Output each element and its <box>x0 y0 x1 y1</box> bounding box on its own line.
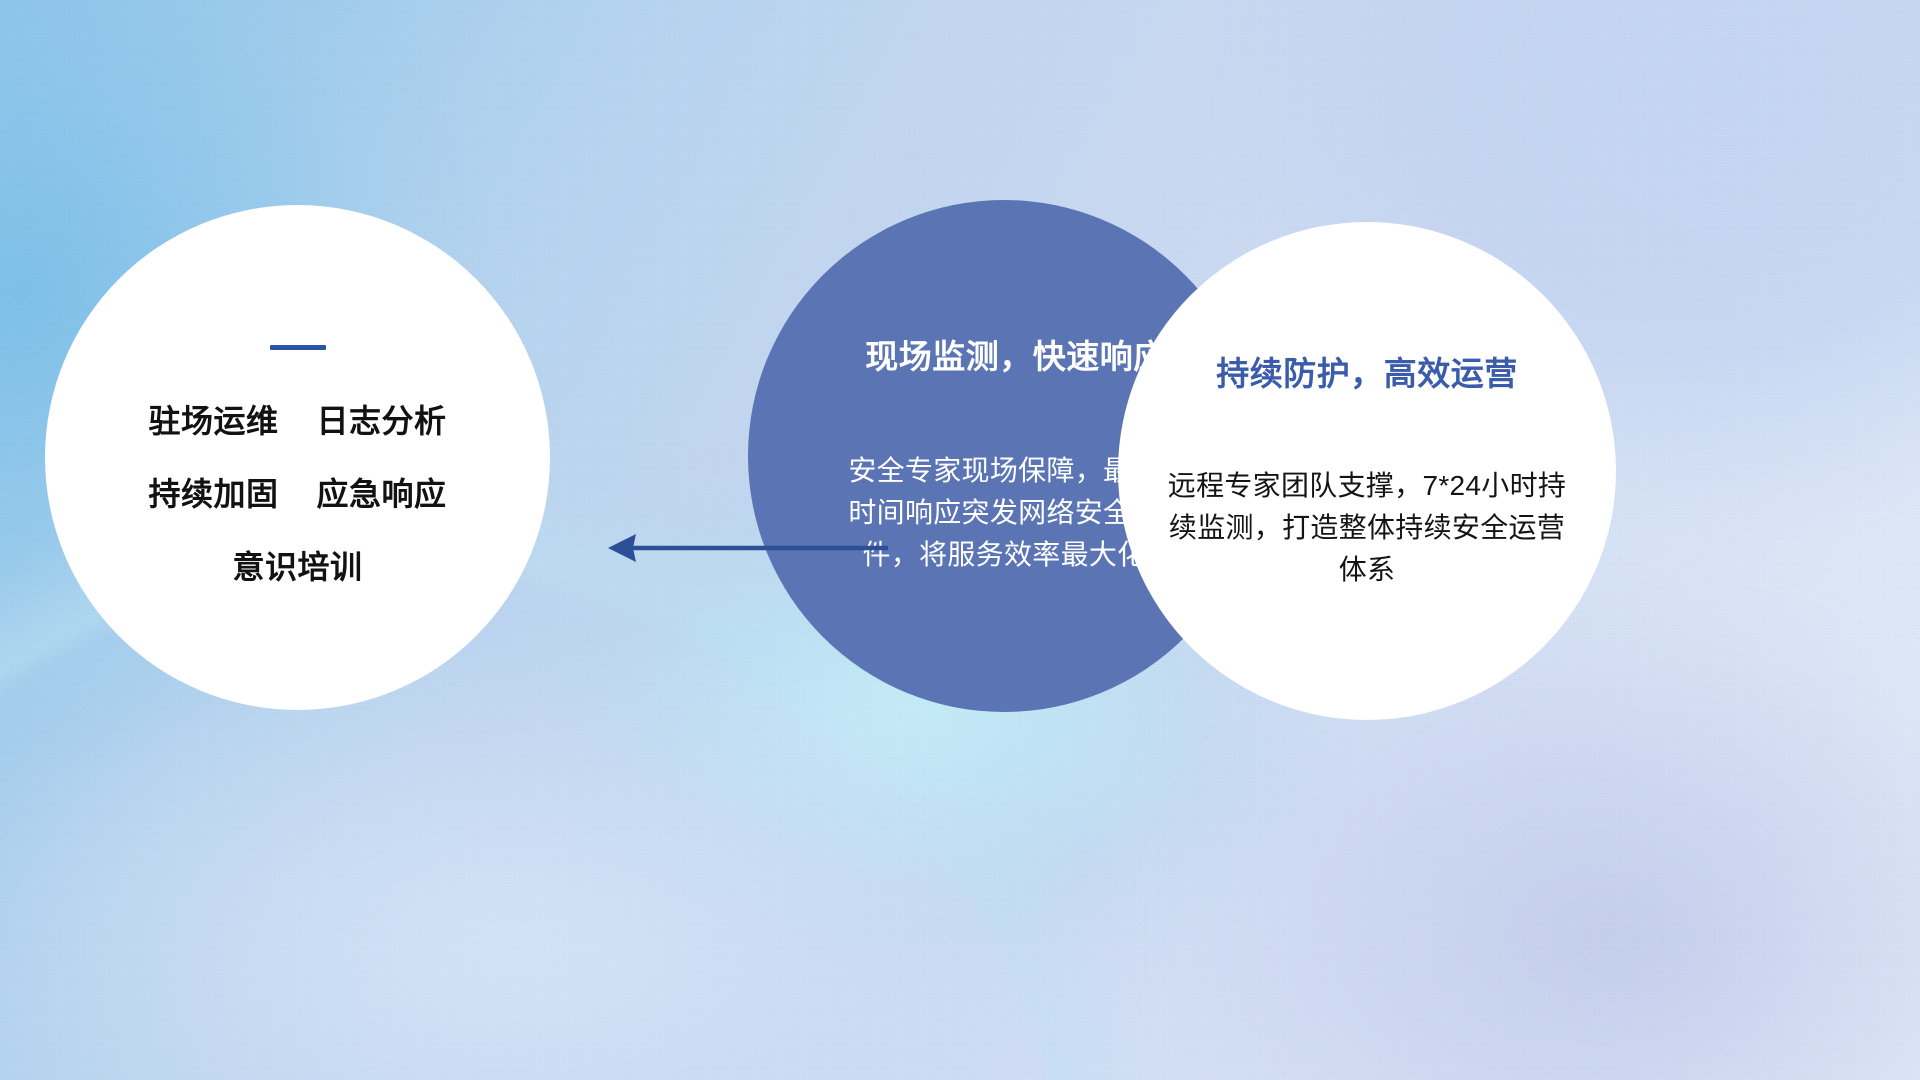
tag-row: 持续加固 应急响应 <box>98 469 498 515</box>
left-circle-content: 驻场运维 日志分析 持续加固 应急响应 意识培训 <box>98 327 498 588</box>
arrow-left-icon <box>600 524 890 572</box>
service-tag[interactable]: 应急响应 <box>317 469 447 515</box>
right-circle-content: 持续防护，高效运营 远程专家团队支撑，7*24小时持续监测，打造整体持续安全运营… <box>1152 347 1582 595</box>
service-tag[interactable]: 驻场运维 <box>148 396 278 442</box>
tag-row: 意识培训 <box>98 542 498 588</box>
tag-row: 驻场运维 日志分析 <box>98 396 498 442</box>
left-circle-card[interactable]: 驻场运维 日志分析 持续加固 应急响应 意识培训 <box>45 205 550 710</box>
infographic-canvas: 现场监测，快速响应 安全专家现场保障，最短时间响应突发网络安全事件，将服务效率最… <box>0 0 1920 1080</box>
right-circle-title: 持续防护，高效运营 <box>1152 347 1582 395</box>
right-circle-card[interactable]: 持续防护，高效运营 远程专家团队支撑，7*24小时持续监测，打造整体持续安全运营… <box>1118 222 1616 720</box>
right-circle-body: 远程专家团队支撑，7*24小时持续监测，打造整体持续安全运营体系 <box>1161 465 1573 591</box>
service-tag[interactable]: 意识培训 <box>232 542 362 588</box>
service-tag[interactable]: 持续加固 <box>148 469 278 515</box>
accent-dash-icon <box>270 345 326 350</box>
service-tag[interactable]: 日志分析 <box>317 396 447 442</box>
